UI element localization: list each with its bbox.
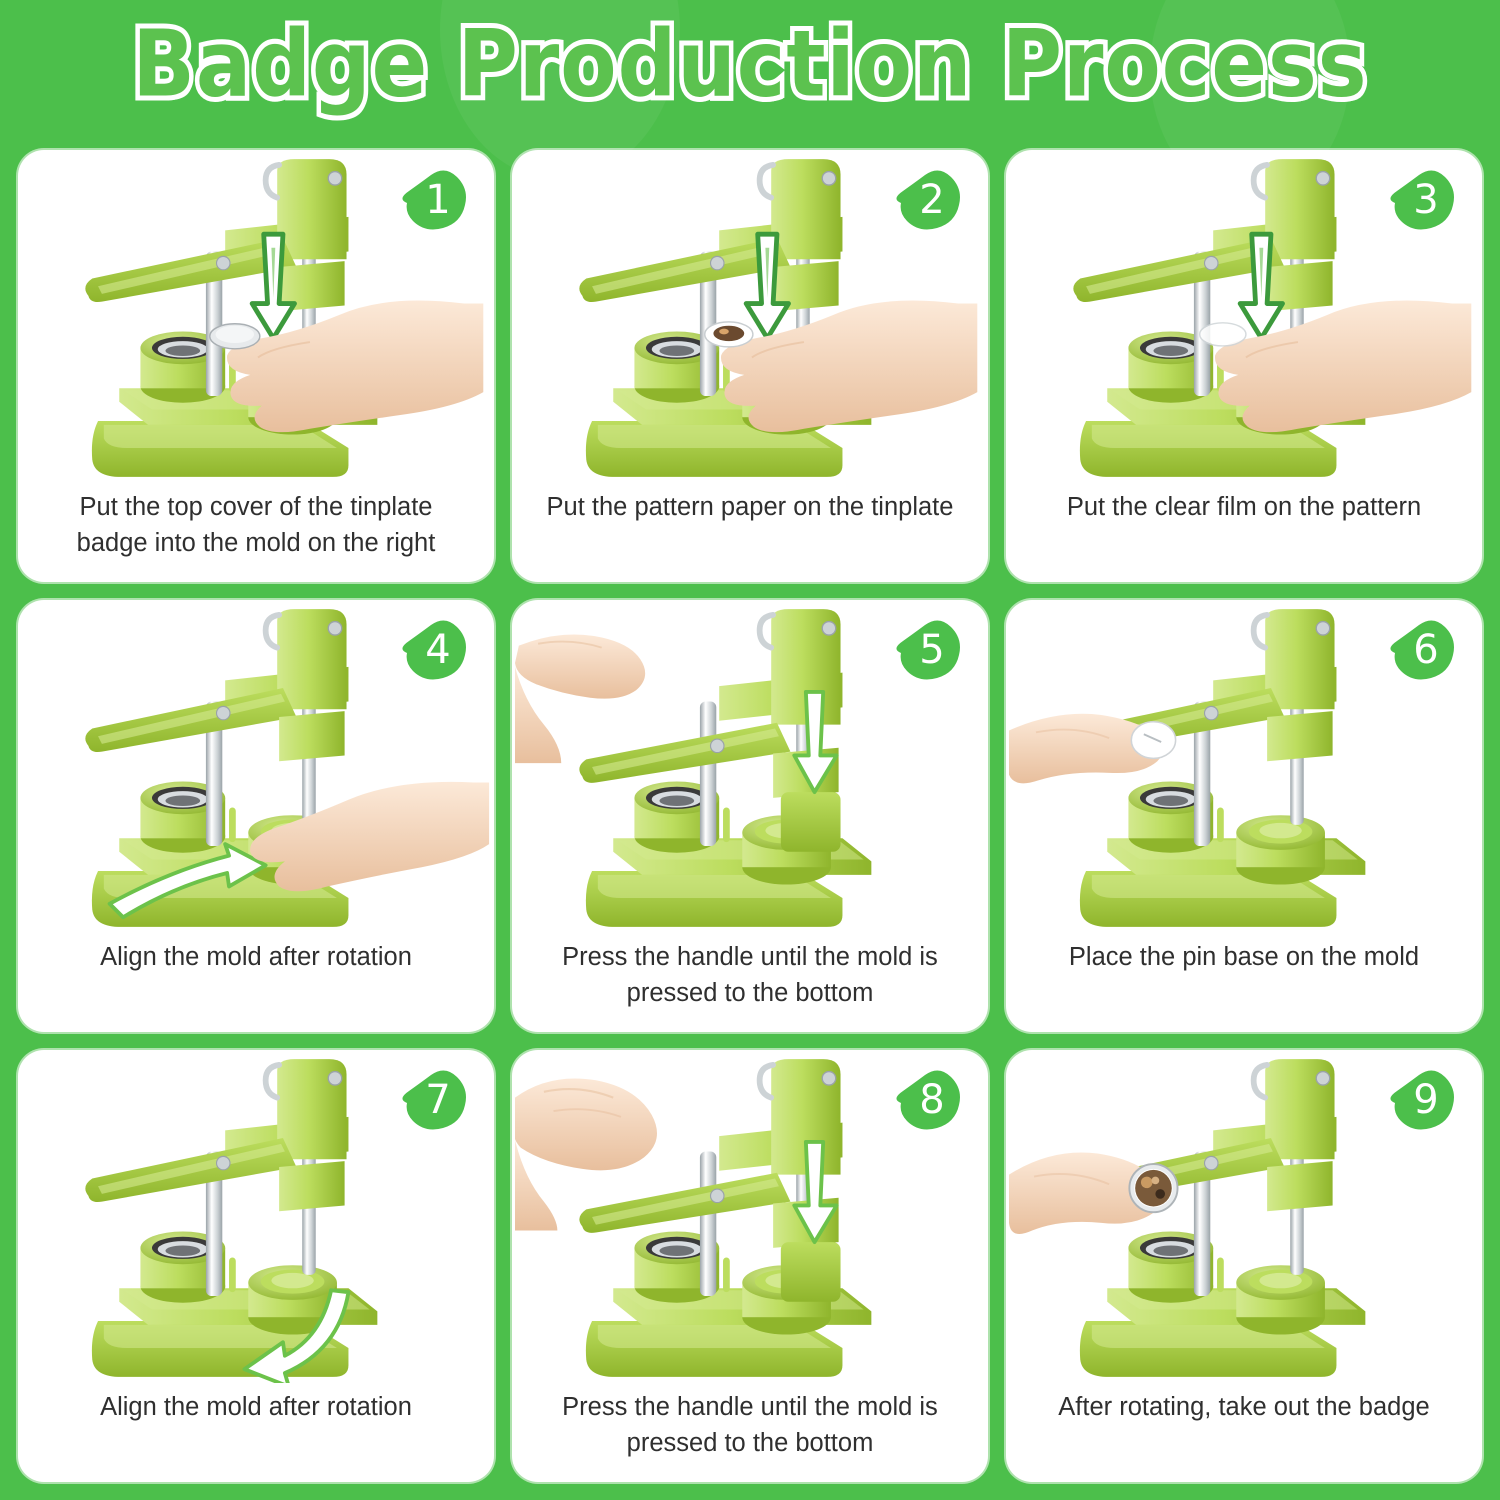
page-title: Badge Production Process <box>132 11 1367 117</box>
step-number: 2 <box>889 169 963 231</box>
step-number: 9 <box>1383 1069 1457 1131</box>
step-card: 3 Put the clear film on the pattern <box>1006 150 1482 582</box>
step-number: 1 <box>395 169 469 231</box>
step-caption: Press the handle until the mold is press… <box>541 1389 959 1475</box>
step-card: 8 Press the handle until the mold is pre… <box>512 1050 988 1482</box>
step-caption: Place the pin base on the mold <box>1035 939 1453 1025</box>
step-number: 8 <box>889 1069 963 1131</box>
step-number-badge: 6 <box>1383 619 1457 681</box>
step-number: 7 <box>395 1069 469 1131</box>
step-caption: Put the top cover of the tinplate badge … <box>47 489 465 575</box>
step-caption: Align the mold after rotation <box>47 939 465 1025</box>
step-card: 4 Align the mold after rotation <box>18 600 494 1032</box>
page-header: Badge Production Process <box>0 0 1500 128</box>
step-number: 6 <box>1383 619 1457 681</box>
step-card: 1 Put the top cover of the tinplate badg… <box>18 150 494 582</box>
step-caption: Put the clear film on the pattern <box>1035 489 1453 575</box>
step-number: 5 <box>889 619 963 681</box>
step-card: 2 Put the pattern paper on the tinplate <box>512 150 988 582</box>
step-caption: Press the handle until the mold is press… <box>541 939 959 1025</box>
steps-grid: 1 Put the top cover of the tinplate badg… <box>18 150 1482 1482</box>
step-number: 4 <box>395 619 469 681</box>
step-number: 3 <box>1383 169 1457 231</box>
step-number-badge: 3 <box>1383 169 1457 231</box>
step-number-badge: 2 <box>889 169 963 231</box>
step-number-badge: 9 <box>1383 1069 1457 1131</box>
step-card: 7 Align the mold after rotation <box>18 1050 494 1482</box>
step-card: 5 Press the handle until the mold is pre… <box>512 600 988 1032</box>
step-number-badge: 5 <box>889 619 963 681</box>
step-caption: Align the mold after rotation <box>47 1389 465 1475</box>
step-caption: After rotating, take out the badge <box>1035 1389 1453 1475</box>
step-number-badge: 7 <box>395 1069 469 1131</box>
step-card: 6 Place the pin base on the mold <box>1006 600 1482 1032</box>
step-number-badge: 4 <box>395 619 469 681</box>
step-number-badge: 1 <box>395 169 469 231</box>
step-card: 9 After rotating, take out the badge <box>1006 1050 1482 1482</box>
step-number-badge: 8 <box>889 1069 963 1131</box>
step-caption: Put the pattern paper on the tinplate <box>541 489 959 575</box>
